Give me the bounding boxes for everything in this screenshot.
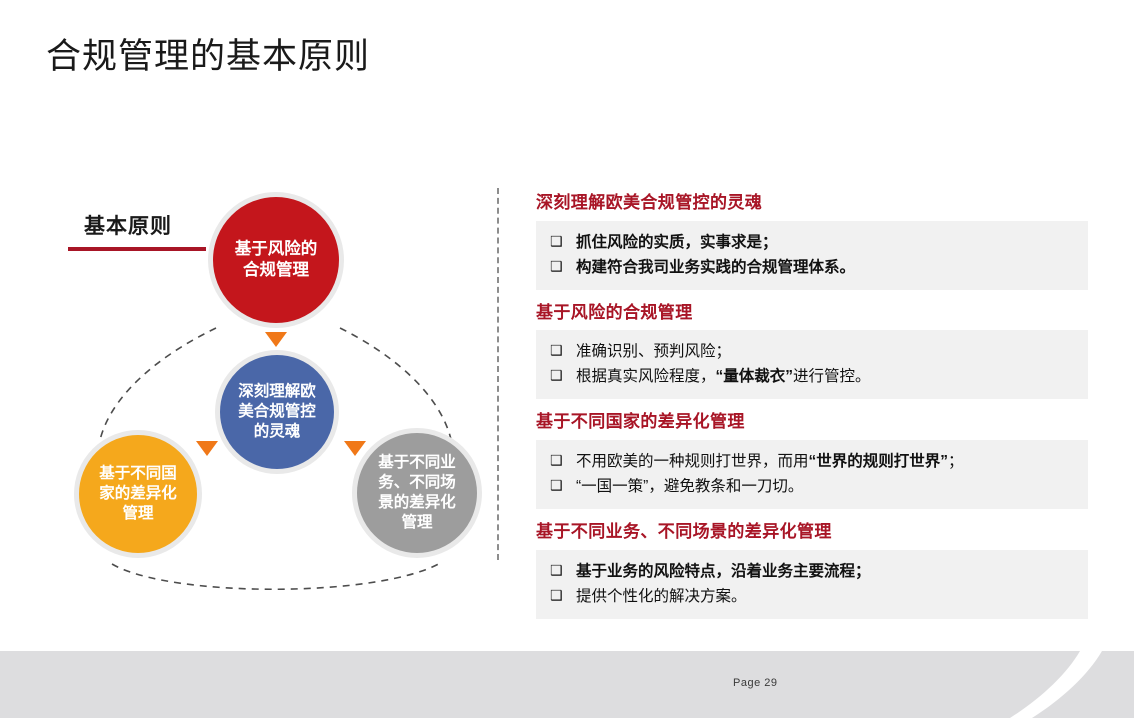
bullet-row: ❑“一国一策”，避免教条和一刀切。 bbox=[550, 474, 1074, 499]
principle-block: 基于不同业务、不同场景的差异化管理❑基于业务的风险特点，沿着业务主要流程；❑提供… bbox=[536, 515, 1088, 619]
triangle-down-icon-left bbox=[196, 441, 218, 456]
bullet-square-icon: ❑ bbox=[550, 449, 576, 472]
bubble-understand-soul-label: 深刻理解欧美合规管控的灵魂 bbox=[232, 382, 322, 441]
principles-detail-panel: 深刻理解欧美合规管控的灵魂❑抓住风险的实质，实事求是；❑构建符合我司业务实践的合… bbox=[536, 186, 1088, 625]
bullet-text: 构建符合我司业务实践的合规管理体系。 bbox=[576, 255, 1074, 280]
principle-block-body: ❑不用欧美的一种规则打世界，而用“世界的规则打世界”；❑“一国一策”，避免教条和… bbox=[536, 440, 1088, 509]
bullet-square-icon: ❑ bbox=[550, 474, 576, 497]
bullet-text-emphasis: “世界的规则打世界” bbox=[809, 453, 949, 470]
bullet-square-icon: ❑ bbox=[550, 230, 576, 253]
bubble-business-scenario-differentiated-label: 基于不同业务、不同场景的差异化管理 bbox=[372, 453, 462, 532]
principle-block-heading: 基于不同国家的差异化管理 bbox=[536, 405, 1088, 440]
bullet-square-icon: ❑ bbox=[550, 559, 576, 582]
bullet-text-lead: 根据真实风险程度， bbox=[576, 368, 716, 385]
principles-diagram: 基本原则 基于风险的合规管理 深刻理解欧美合规管控的灵魂 基于不同国家的差异化管… bbox=[0, 160, 500, 590]
bullet-row: ❑抓住风险的实质，实事求是； bbox=[550, 230, 1074, 255]
bullet-text: 抓住风险的实质，实事求是； bbox=[576, 230, 1074, 255]
footer-swoosh-decoration bbox=[834, 651, 1134, 718]
diagram-label-underline bbox=[68, 247, 206, 251]
bullet-row: ❑构建符合我司业务实践的合规管理体系。 bbox=[550, 255, 1074, 280]
bubble-risk-based-compliance-label: 基于风险的合规管理 bbox=[229, 239, 324, 281]
bubble-country-differentiated[interactable]: 基于不同国家的差异化管理 bbox=[74, 430, 202, 558]
bullet-row: ❑基于业务的风险特点，沿着业务主要流程； bbox=[550, 559, 1074, 584]
bullet-text: 根据真实风险程度，“量体裁衣”进行管控。 bbox=[576, 364, 1074, 389]
principle-block-heading: 基于不同业务、不同场景的差异化管理 bbox=[536, 515, 1088, 550]
bubble-country-differentiated-label: 基于不同国家的差异化管理 bbox=[93, 464, 183, 523]
bullet-text-lead: 不用欧美的一种规则打世界，而用 bbox=[576, 453, 809, 470]
bullet-text-tail: ； bbox=[948, 453, 964, 470]
bullet-square-icon: ❑ bbox=[550, 584, 576, 607]
bullet-square-icon: ❑ bbox=[550, 364, 576, 387]
principle-block: 深刻理解欧美合规管控的灵魂❑抓住风险的实质，实事求是；❑构建符合我司业务实践的合… bbox=[536, 186, 1088, 290]
bullet-row: ❑提供个性化的解决方案。 bbox=[550, 584, 1074, 609]
slide-canvas: 合规管理的基本原则 基本原则 基于风险的合规管理 深刻理解欧美合规管控的灵魂 基… bbox=[0, 0, 1134, 718]
bullet-text-emphasis: “量体裁衣” bbox=[716, 368, 794, 385]
bubble-business-scenario-differentiated[interactable]: 基于不同业务、不同场景的差异化管理 bbox=[352, 428, 482, 558]
bullet-text: 提供个性化的解决方案。 bbox=[576, 584, 1074, 609]
bullet-text: 基于业务的风险特点，沿着业务主要流程； bbox=[576, 559, 1074, 584]
bullet-square-icon: ❑ bbox=[550, 255, 576, 278]
bullet-row: ❑准确识别、预判风险； bbox=[550, 339, 1074, 364]
page-number-label: Page 29 bbox=[733, 677, 777, 689]
bullet-square-icon: ❑ bbox=[550, 339, 576, 362]
bullet-text: 不用欧美的一种规则打世界，而用“世界的规则打世界”； bbox=[576, 449, 1074, 474]
principle-block-body: ❑抓住风险的实质，实事求是；❑构建符合我司业务实践的合规管理体系。 bbox=[536, 221, 1088, 290]
principle-block: 基于风险的合规管理❑准确识别、预判风险；❑根据真实风险程度，“量体裁衣”进行管控… bbox=[536, 296, 1088, 400]
diagram-label: 基本原则 bbox=[84, 210, 172, 240]
principle-block-heading: 深刻理解欧美合规管控的灵魂 bbox=[536, 186, 1088, 221]
triangle-down-icon-right bbox=[344, 441, 366, 456]
vertical-dashed-divider bbox=[497, 188, 499, 560]
principle-block-heading: 基于风险的合规管理 bbox=[536, 296, 1088, 331]
slide-footer-bar bbox=[0, 651, 1134, 718]
bullet-row: ❑不用欧美的一种规则打世界，而用“世界的规则打世界”； bbox=[550, 449, 1074, 474]
bubble-risk-based-compliance[interactable]: 基于风险的合规管理 bbox=[208, 192, 344, 328]
page-title: 合规管理的基本原则 bbox=[46, 36, 370, 78]
triangle-down-icon-top bbox=[265, 332, 287, 347]
principle-block: 基于不同国家的差异化管理❑不用欧美的一种规则打世界，而用“世界的规则打世界”；❑… bbox=[536, 405, 1088, 509]
bullet-text: “一国一策”，避免教条和一刀切。 bbox=[576, 474, 1074, 499]
principle-block-body: ❑准确识别、预判风险；❑根据真实风险程度，“量体裁衣”进行管控。 bbox=[536, 330, 1088, 399]
bullet-text-tail: 进行管控。 bbox=[793, 368, 871, 385]
bullet-text: 准确识别、预判风险； bbox=[576, 339, 1074, 364]
bubble-understand-soul[interactable]: 深刻理解欧美合规管控的灵魂 bbox=[215, 350, 339, 474]
principle-block-body: ❑基于业务的风险特点，沿着业务主要流程；❑提供个性化的解决方案。 bbox=[536, 550, 1088, 619]
bullet-row: ❑根据真实风险程度，“量体裁衣”进行管控。 bbox=[550, 364, 1074, 389]
